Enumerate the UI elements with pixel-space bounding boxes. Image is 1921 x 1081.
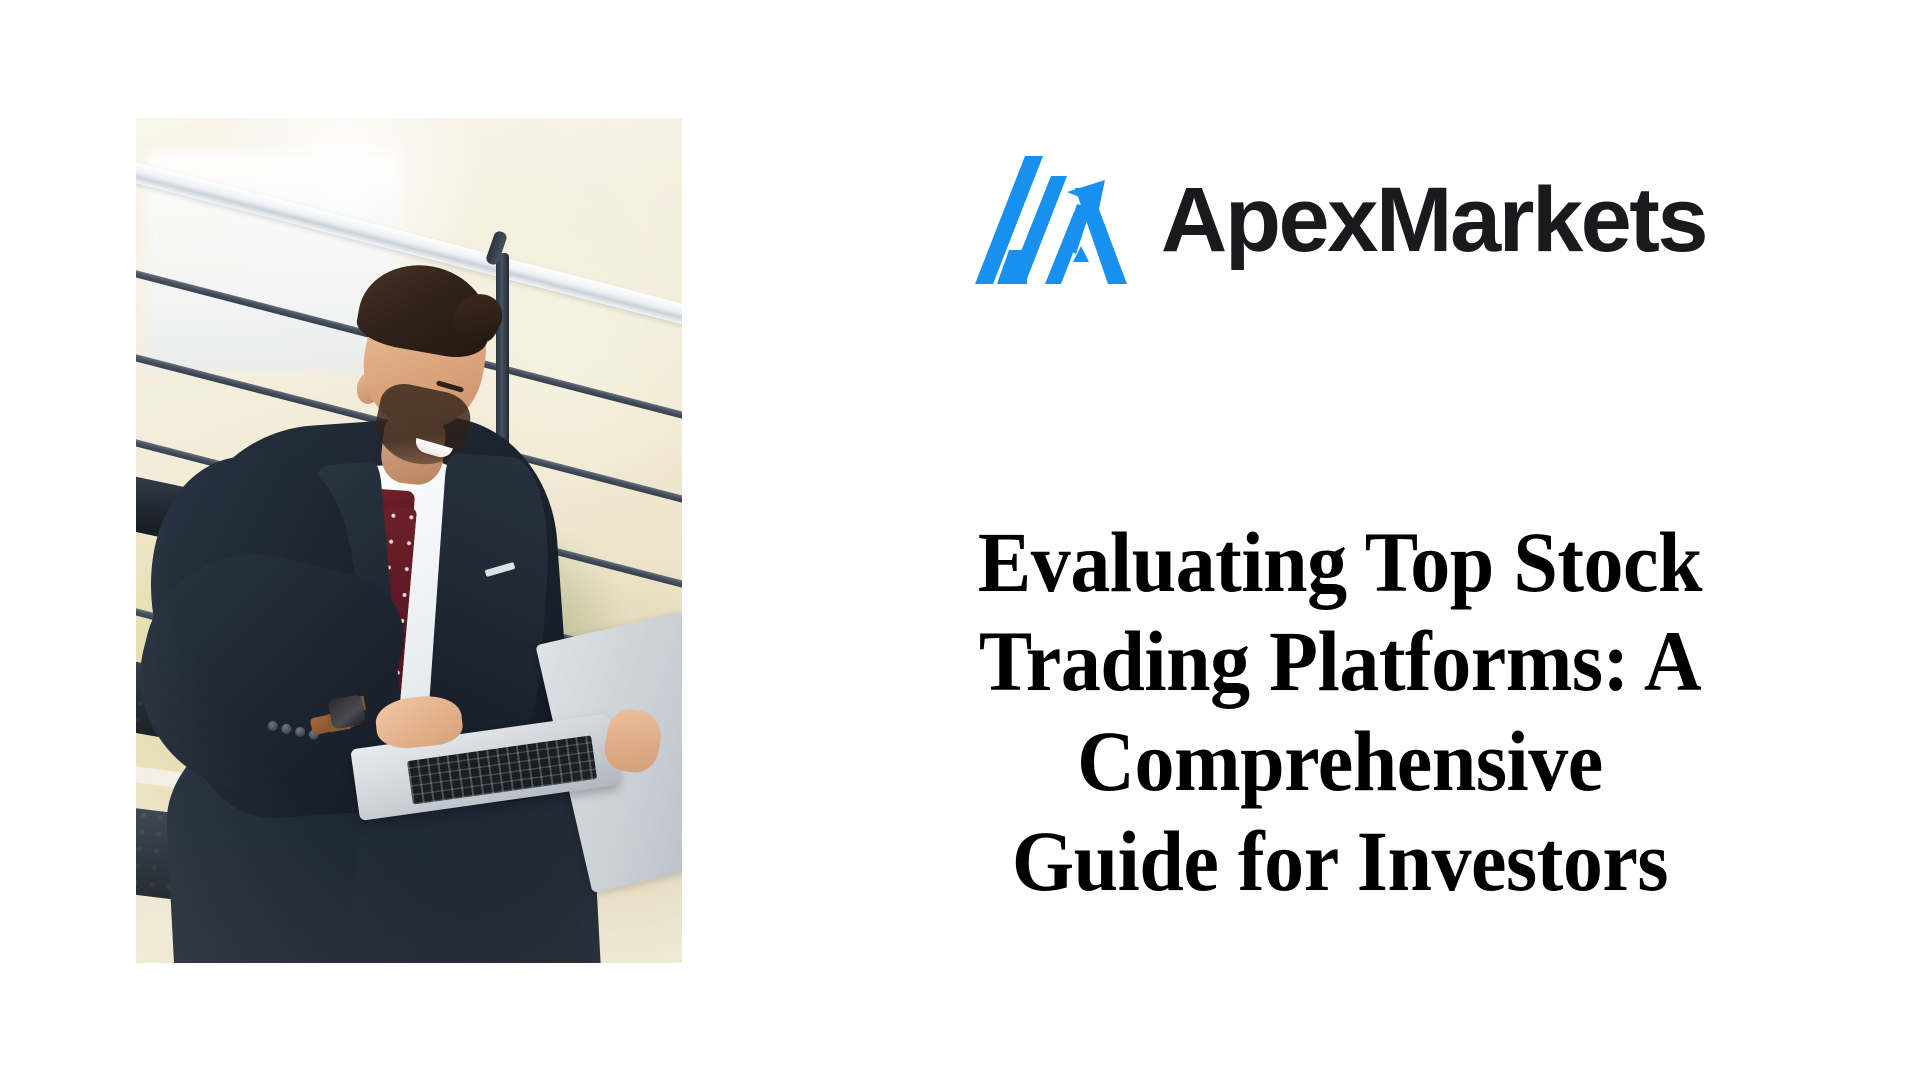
hero-photo-inner (136, 118, 682, 963)
content-panel: ApexMarkets Evaluating Top Stock Trading… (760, 0, 1921, 1081)
headline-line-3: Comprehensive (912, 712, 1768, 812)
headline-line-4: Guide for Investors (912, 812, 1768, 912)
headline-line-2: Trading Platforms: A (912, 612, 1768, 712)
apex-arrow-chart-logo-icon (975, 150, 1127, 290)
brand-wordmark: ApexMarkets (1161, 174, 1706, 266)
poster-canvas: ApexMarkets Evaluating Top Stock Trading… (0, 0, 1921, 1081)
headline-line-1: Evaluating Top Stock (912, 513, 1768, 613)
wristwatch (327, 694, 366, 729)
hero-photo (136, 118, 682, 963)
brand-lockup: ApexMarkets (760, 150, 1921, 290)
page-title: Evaluating Top Stock Trading Platforms: … (912, 513, 1768, 912)
